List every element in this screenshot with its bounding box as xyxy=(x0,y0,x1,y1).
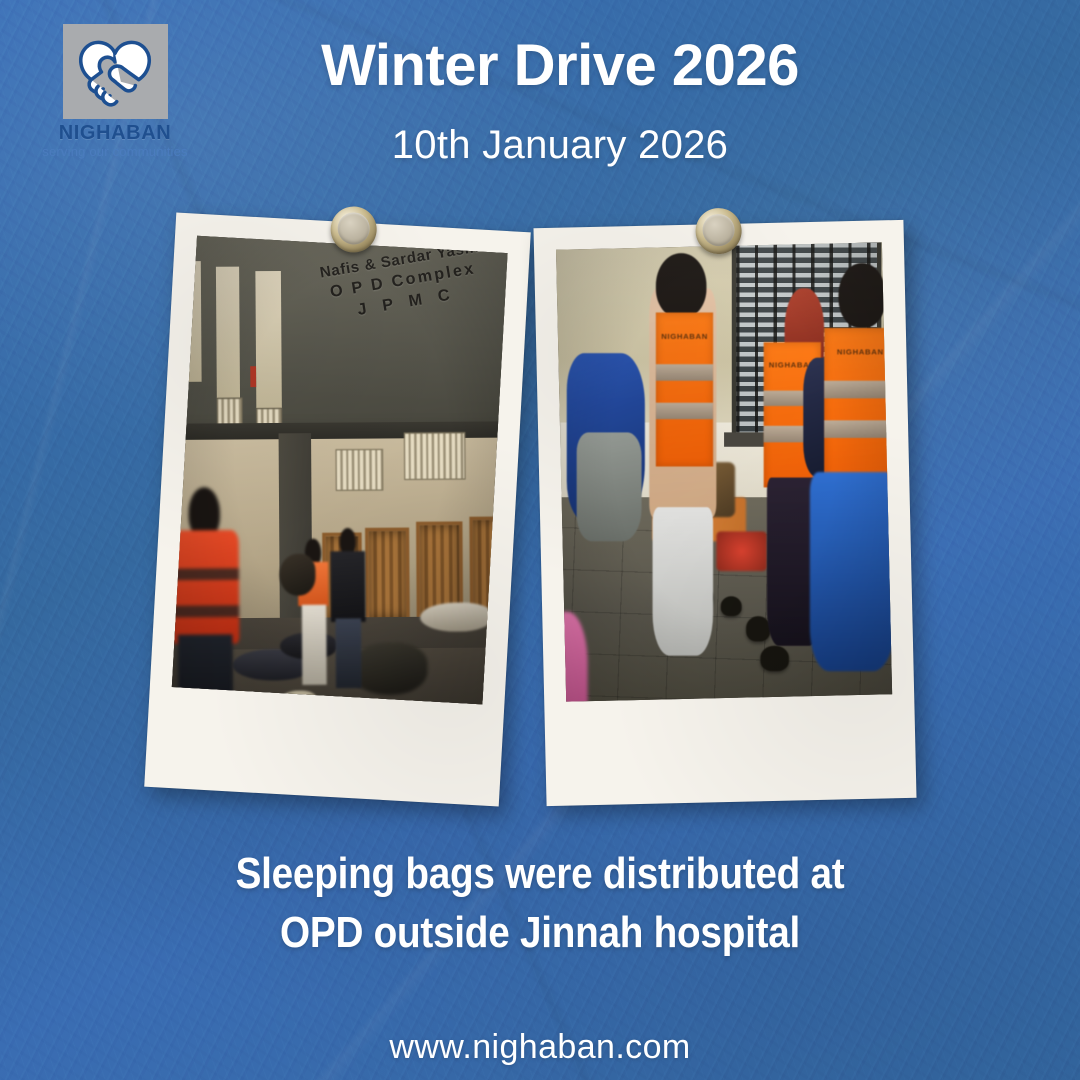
photo-right-image: NIGHABAN NIGHABAN NIGHABAN xyxy=(556,242,892,701)
volunteer-vest: NIGHABAN xyxy=(656,313,713,467)
brand-logo-block: NIGHABAN serving our communities xyxy=(30,24,200,160)
vest-label: NIGHABAN xyxy=(837,348,884,356)
handshake-heart-icon xyxy=(63,24,168,119)
polaroid-photo-left[interactable]: Nafis & Sardar Yasin O P D Complex J P M… xyxy=(144,213,531,807)
page-title: Winter Drive 2026 xyxy=(210,32,910,99)
photo-left-image: Nafis & Sardar Yasin O P D Complex J P M… xyxy=(172,236,508,705)
polaroid-photo-right[interactable]: NIGHABAN NIGHABAN NIGHABAN xyxy=(533,220,916,806)
caption-line-1: Sleeping bags were distributed at xyxy=(236,849,845,898)
event-date: 10th January 2026 xyxy=(210,123,910,168)
poster-stage: NIGHABAN serving our communities Winter … xyxy=(0,0,1080,1080)
vest-label: NIGHABAN xyxy=(661,333,708,341)
caption-line-2: OPD outside Jinnah hospital xyxy=(118,904,963,963)
website-url[interactable]: www.nighaban.com xyxy=(0,1028,1080,1067)
caption-text: Sleeping bags were distributed at OPD ou… xyxy=(118,845,963,962)
brand-tagline: serving our communities xyxy=(30,144,200,160)
brand-name: NIGHABAN xyxy=(30,123,200,144)
